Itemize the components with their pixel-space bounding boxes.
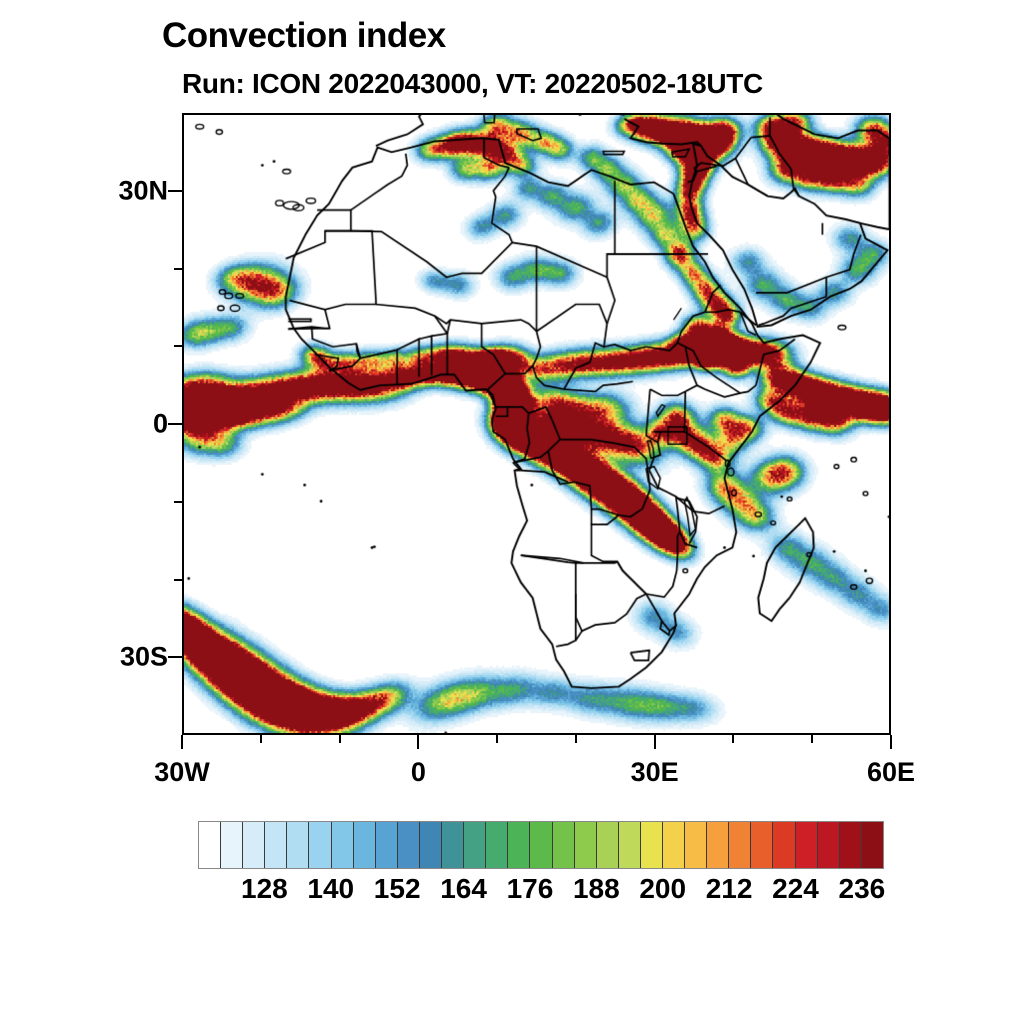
axis-tick (174, 501, 182, 503)
colorbar-tick-label: 128 (241, 873, 288, 905)
map-plot-area[interactable] (182, 113, 891, 735)
axis-tick (174, 579, 182, 581)
axis-tick (181, 735, 183, 749)
colorbar-cell (199, 822, 221, 868)
colorbar-tick-label: 164 (440, 873, 487, 905)
axis-tick (575, 735, 577, 743)
colorbar-cell (265, 822, 287, 868)
axis-tick (811, 735, 813, 743)
y-axis-label: 0 (60, 409, 168, 440)
colorbar-tick-label: 200 (639, 873, 686, 905)
colorbar-tick-label: 140 (307, 873, 354, 905)
colorbar-cell (442, 822, 464, 868)
axis-tick (417, 735, 419, 749)
x-axis-label: 0 (411, 757, 426, 788)
colorbar-cell (707, 822, 729, 868)
axis-tick (496, 735, 498, 743)
axis-tick (732, 735, 734, 743)
colorbar-cell (287, 822, 309, 868)
axis-tick (260, 735, 262, 743)
colorbar-cell (420, 822, 442, 868)
x-axis-label: 30E (631, 757, 679, 788)
colorbar-cell (486, 822, 508, 868)
y-axis-label: 30N (60, 175, 168, 206)
colorbar-cell (464, 822, 486, 868)
axis-tick (339, 735, 341, 743)
axis-tick (174, 345, 182, 347)
colorbar-cell (818, 822, 840, 868)
colorbar-tick-label: 236 (839, 873, 886, 905)
colorbar-cell (354, 822, 376, 868)
colorbar-cell (309, 822, 331, 868)
colorbar-cell (530, 822, 552, 868)
axis-tick (890, 735, 892, 749)
colorbar-cell (221, 822, 243, 868)
colorbar-tick-label: 212 (706, 873, 753, 905)
convection-index-heatmap (184, 115, 889, 733)
axis-tick (654, 735, 656, 749)
colorbar-cell (663, 822, 685, 868)
colorbar-cell (729, 822, 751, 868)
x-axis-label: 30W (154, 757, 210, 788)
colorbar-tick-label: 188 (573, 873, 620, 905)
colorbar-tick-label: 224 (772, 873, 819, 905)
x-axis-label: 60E (867, 757, 915, 788)
colorbar-cell (840, 822, 862, 868)
colorbar-cell (508, 822, 530, 868)
run-valid-time-subtitle: Run: ICON 2022043000, VT: 20220502-18UTC (182, 68, 763, 100)
page-title: Convection index (162, 16, 446, 56)
colorbar-cell (376, 822, 398, 868)
colorbar-cell (332, 822, 354, 868)
axis-tick (168, 423, 182, 425)
colorbar-cell (641, 822, 663, 868)
colorbar-cell (243, 822, 265, 868)
colorbar-cell (862, 822, 883, 868)
colorbar-cell (597, 822, 619, 868)
colorbar-cell (619, 822, 641, 868)
colorbar (198, 821, 884, 869)
colorbar-cell (796, 822, 818, 868)
axis-tick (168, 656, 182, 658)
colorbar-cell (773, 822, 795, 868)
colorbar-tick-label: 152 (374, 873, 421, 905)
axis-tick (168, 190, 182, 192)
colorbar-cell (553, 822, 575, 868)
colorbar-tick-labels: 128140152164176188200212224236 (0, 873, 1024, 913)
colorbar-cell (685, 822, 707, 868)
colorbar-tick-label: 176 (507, 873, 554, 905)
colorbar-cell (575, 822, 597, 868)
colorbar-cell (751, 822, 773, 868)
colorbar-cell (398, 822, 420, 868)
y-axis-label: 30S (60, 642, 168, 673)
axis-tick (174, 268, 182, 270)
